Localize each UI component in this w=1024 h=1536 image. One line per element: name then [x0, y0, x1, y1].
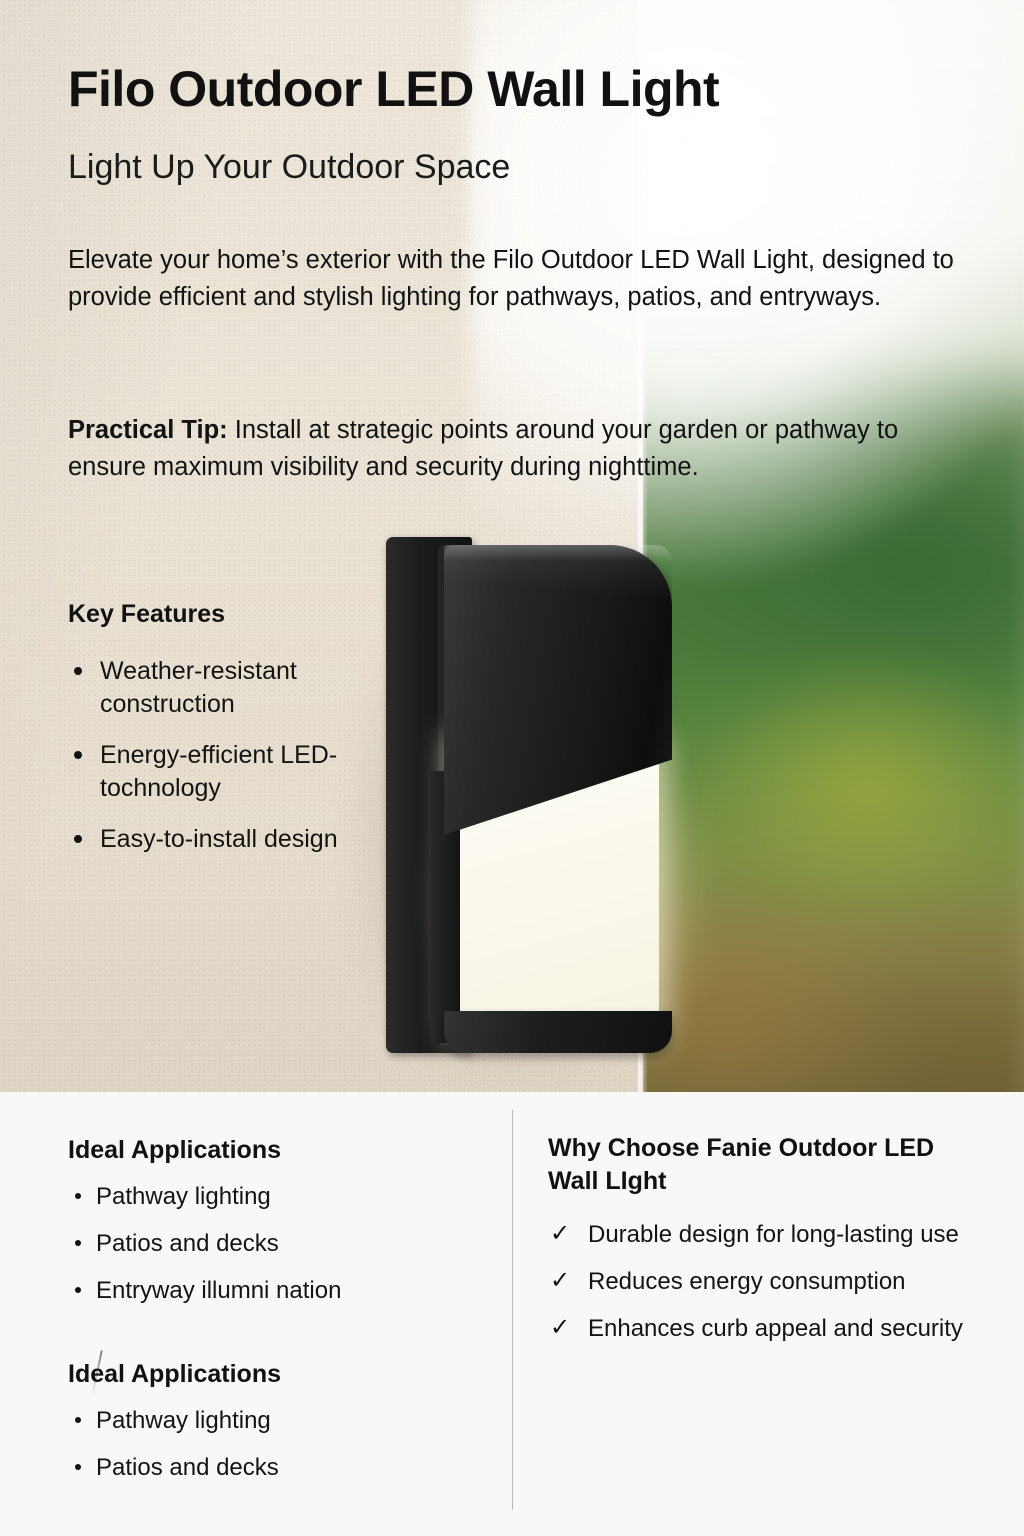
- intro-paragraph: Elevate your home’s exterior with the Fi…: [68, 242, 968, 315]
- lamp-base-cap: [444, 1011, 672, 1053]
- ideal-applications-list-duplicate: Pathway lighting Patios and decks: [68, 1405, 488, 1483]
- why-choose-list: ✓ Durable design for long-lasting use ✓ …: [548, 1219, 968, 1345]
- product-infographic-page: Filo Outdoor LED Wall Light Light Up You…: [0, 0, 1024, 1536]
- why-choose-column: Why Choose Fanie Outdoor LED Wall LIght …: [548, 1092, 968, 1361]
- hero-section: Filo Outdoor LED Wall Light Light Up You…: [0, 0, 1024, 1092]
- page-subtitle: Light Up Your Outdoor Space: [68, 148, 510, 187]
- list-item: Pathway lighting: [68, 1405, 488, 1436]
- list-item: Weather-resistant construction: [68, 655, 368, 721]
- list-item: Easy-to-install design: [68, 823, 368, 856]
- why-choose-heading: Why Choose Fanie Outdoor LED Wall LIght: [548, 1132, 968, 1197]
- list-item: ✓ Enhances curb appeal and security: [548, 1313, 968, 1344]
- check-icon: ✓: [550, 1218, 570, 1249]
- lamp-shade-top-rim: [444, 545, 672, 561]
- column-divider: [512, 1110, 513, 1510]
- bottom-panel: Ideal Applications Pathway lighting Pati…: [0, 1092, 1024, 1536]
- check-icon: ✓: [550, 1312, 570, 1343]
- practical-tip-paragraph: Practical Tip: Install at strategic poin…: [68, 412, 968, 485]
- ideal-applications-list: Pathway lighting Patios and decks Entryw…: [68, 1181, 488, 1307]
- list-item: Patios and decks: [68, 1452, 488, 1483]
- product-image-wall-light: [386, 533, 686, 1058]
- list-item: Entryway illumni nation: [68, 1275, 488, 1306]
- ideal-applications-column: Ideal Applications Pathway lighting Pati…: [68, 1092, 488, 1499]
- list-item-label: Durable design for long-lasting use: [588, 1221, 959, 1248]
- ideal-applications-heading-duplicate: Ideal Applications: [68, 1358, 488, 1391]
- list-item: ✓ Reduces energy consumption: [548, 1266, 968, 1297]
- list-item: Energy-efficient LED-tochnology: [68, 739, 368, 805]
- list-item: ✓ Durable design for long-lasting use: [548, 1219, 968, 1250]
- list-item: Pathway lighting: [68, 1181, 488, 1212]
- check-icon: ✓: [550, 1265, 570, 1296]
- list-item: Patios and decks: [68, 1228, 488, 1259]
- page-title: Filo Outdoor LED Wall Light: [68, 62, 719, 116]
- key-features-list: Weather-resistant construction Energy-ef…: [68, 655, 368, 874]
- list-item-label: Reduces energy consumption: [588, 1268, 906, 1295]
- list-item-label: Enhances curb appeal and security: [588, 1315, 963, 1342]
- ideal-applications-heading: Ideal Applications: [68, 1134, 488, 1167]
- key-features-heading: Key Features: [68, 600, 225, 629]
- practical-tip-label: Practical Tip:: [68, 416, 228, 444]
